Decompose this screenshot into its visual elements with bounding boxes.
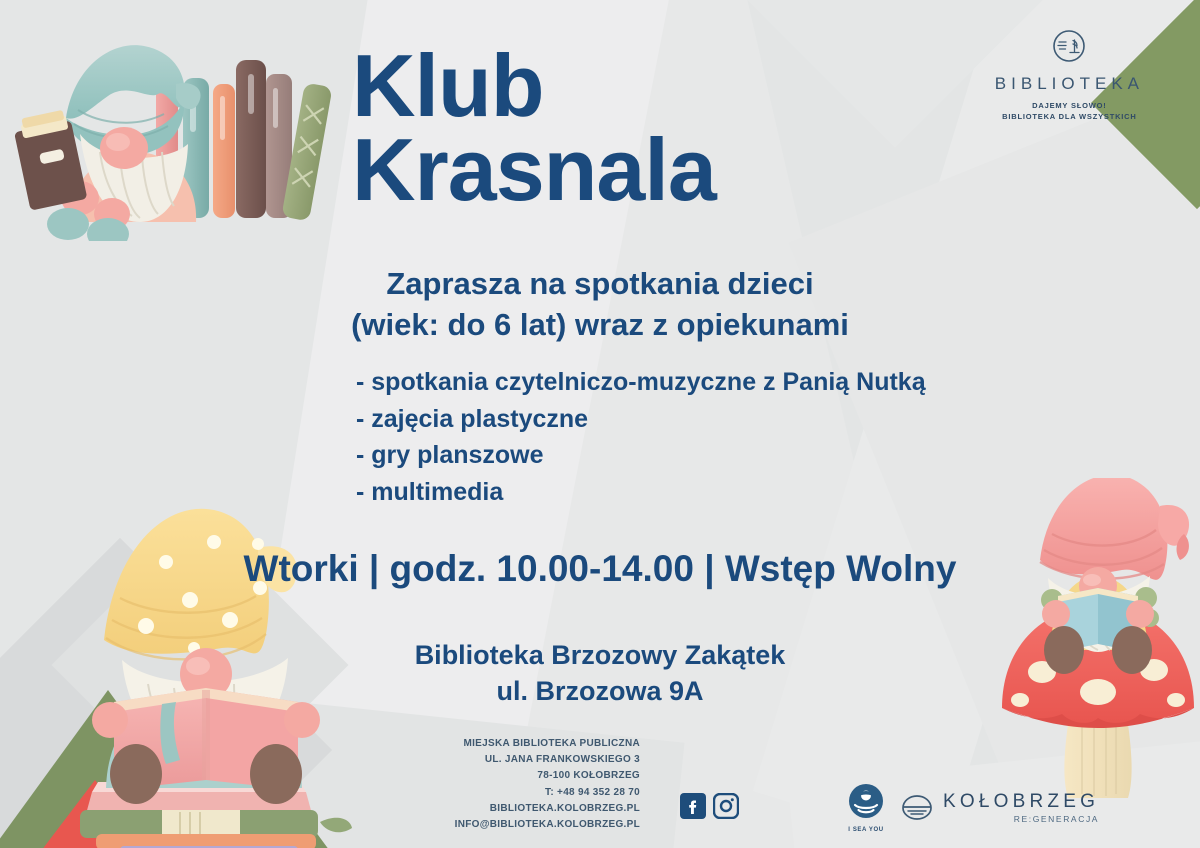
poster-canvas: Klub Krasnala BIBLIOTEKA DAJEMY SŁOWO! B… <box>0 0 1200 848</box>
kolobrzeg-logo: KOŁOBRZEG RE:GENERACJA <box>900 792 1099 824</box>
library-tagline-1: DAJEMY SŁOWO! <box>995 101 1144 110</box>
library-name: BIBLIOTEKA <box>995 74 1144 94</box>
page-title: Klub Krasnala <box>352 44 716 211</box>
contact-website[interactable]: BIBLIOTEKA.KOLOBRZEG.PL <box>400 801 640 817</box>
kolobrzeg-subtitle: RE:GENERACJA <box>943 815 1099 824</box>
list-item: - zajęcia plastyczne <box>356 401 926 438</box>
library-logo: BIBLIOTEKA DAJEMY SŁOWO! BIBLIOTEKA DLA … <box>995 28 1144 121</box>
subtitle: Zaprasza na spotkania dzieci (wiek: do 6… <box>0 264 1200 346</box>
kolobrzeg-name: KOŁOBRZEG <box>943 792 1099 811</box>
subtitle-line-1: Zaprasza na spotkania dzieci <box>0 264 1200 305</box>
activities-list: - spotkania czytelniczo-muzyczne z Panią… <box>356 364 926 510</box>
circle-waves-tree-icon <box>1051 28 1087 64</box>
schedule-line: Wtorki | godz. 10.00-14.00 | Wstęp Wolny <box>0 548 1200 590</box>
contact-line: UL. JANA FRANKOWSKIEGO 3 <box>400 752 640 768</box>
contact-email[interactable]: INFO@BIBLIOTEKA.KOLOBRZEG.PL <box>400 817 640 833</box>
list-item: - multimedia <box>356 474 926 511</box>
dome-waves-icon <box>900 794 934 822</box>
isea-you-caption: I SEA YOU <box>848 827 884 833</box>
contact-block: MIEJSKA BIBLIOTEKA PUBLICZNA UL. JANA FR… <box>400 736 640 833</box>
list-item: - spotkania czytelniczo-muzyczne z Panią… <box>356 364 926 401</box>
eye-waves-icon <box>848 783 884 819</box>
title-line-2: Krasnala <box>352 128 716 212</box>
social-links <box>680 793 739 819</box>
subtitle-line-2: (wiek: do 6 lat) wraz z opiekunami <box>0 305 1200 346</box>
gnome-with-books-illustration <box>8 26 338 246</box>
facebook-icon[interactable] <box>680 793 706 819</box>
venue-name: Biblioteka Brzozowy Zakątek <box>0 637 1200 673</box>
venue-street: ul. Brzozowa 9A <box>0 673 1200 709</box>
isea-you-logo: I SEA YOU <box>848 783 884 833</box>
list-item: - gry planszowe <box>356 437 926 474</box>
contact-line: MIEJSKA BIBLIOTEKA PUBLICZNA <box>400 736 640 752</box>
contact-line: 78-100 KOŁOBRZEG <box>400 768 640 784</box>
contact-phone: T: +48 94 352 28 70 <box>400 785 640 801</box>
instagram-icon[interactable] <box>713 793 739 819</box>
partner-logos: I SEA YOU KOŁOBRZEG RE:GENERACJA <box>848 783 1099 833</box>
venue-block: Biblioteka Brzozowy Zakątek ul. Brzozowa… <box>0 637 1200 709</box>
library-tagline-2: BIBLIOTEKA DLA WSZYSTKICH <box>995 112 1144 121</box>
